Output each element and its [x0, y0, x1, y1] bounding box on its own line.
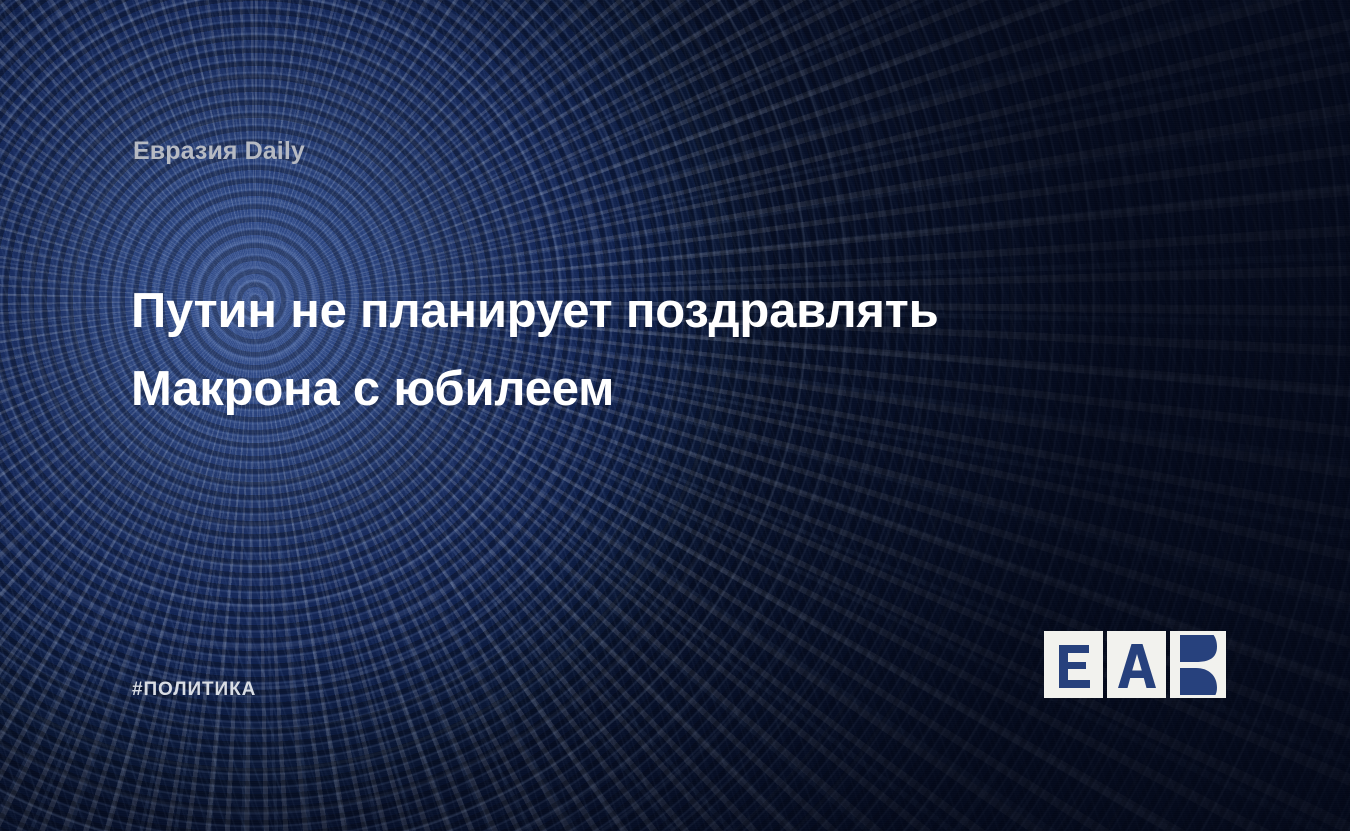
- headline-line-2: Макрона с юбилеем: [131, 350, 1091, 428]
- headline-line-1: Путин не планирует поздравлять: [131, 272, 1091, 350]
- logo-tile-e: [1044, 631, 1103, 698]
- card-content: Евразия Daily Путин не планирует поздрав…: [0, 0, 1350, 831]
- category-hashtag: #ПОЛИТИКА: [132, 679, 256, 701]
- logo-letter-e-icon: [1056, 642, 1092, 688]
- ead-logo: [1044, 631, 1226, 698]
- news-card: Евразия Daily Путин не планирует поздрав…: [0, 0, 1350, 831]
- logo-letter-d-split-icon: [1178, 635, 1218, 695]
- logo-letter-a-icon: [1117, 642, 1157, 688]
- headline: Путин не планирует поздравлять Макрона с…: [131, 272, 1091, 428]
- logo-tile-a: [1107, 631, 1166, 698]
- brand-title: Евразия Daily: [133, 137, 305, 166]
- logo-tile-d: [1170, 631, 1226, 698]
